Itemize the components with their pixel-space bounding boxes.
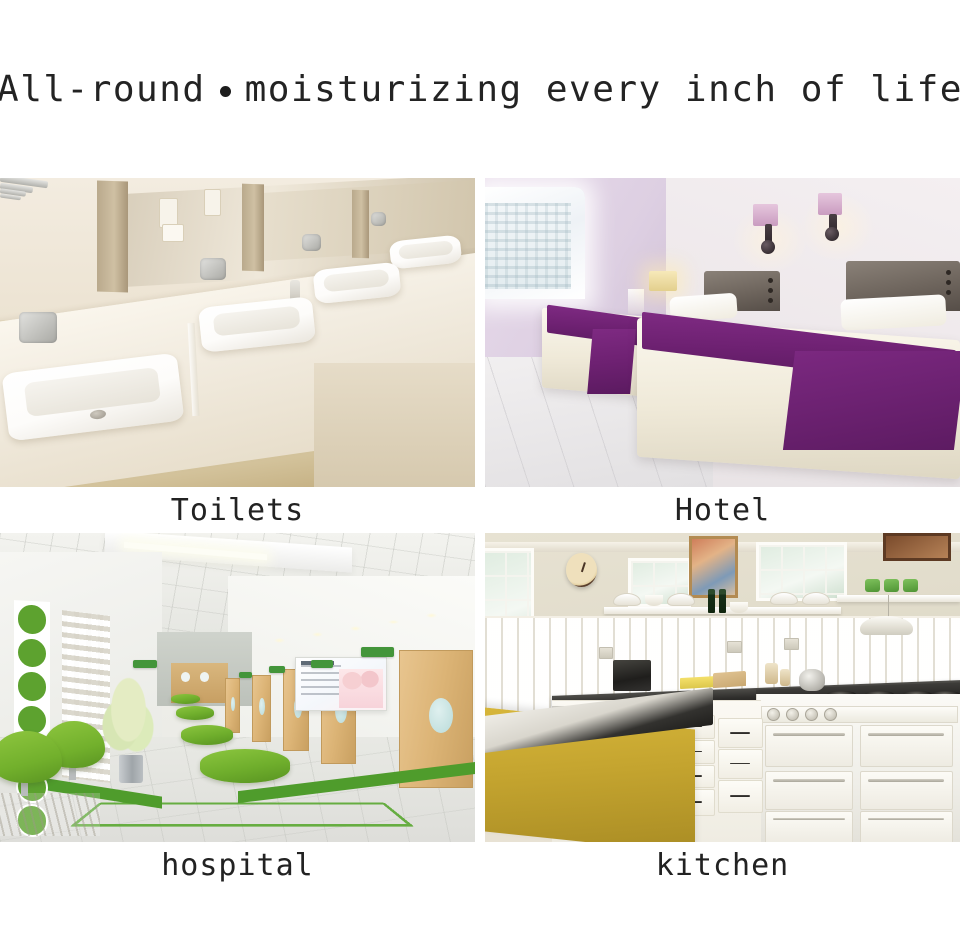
cabinet-drawer[interactable]	[718, 718, 763, 748]
bullet-dot-icon	[220, 86, 231, 97]
wall-clock-icon	[566, 553, 597, 587]
oven-door[interactable]	[860, 771, 952, 810]
countertop-jar	[765, 663, 777, 685]
range-knob[interactable]	[786, 708, 799, 721]
oven-door[interactable]	[860, 725, 952, 767]
page-title: All-round moisturizing every inch of lif…	[0, 69, 960, 110]
restroom-pillar	[97, 181, 128, 293]
patient-room-door[interactable]	[252, 675, 271, 742]
scene-gallery-grid: Toilets	[0, 178, 960, 878]
poster-photo	[339, 669, 382, 708]
paper-dispenser	[204, 189, 221, 216]
wall-lightbox-poster	[295, 657, 387, 712]
wall-outlet	[727, 641, 741, 653]
floor-green-inlay	[69, 802, 414, 826]
gallery-tile-kitchen[interactable]: kitchen	[485, 533, 960, 888]
bedside-lamp-base	[628, 289, 645, 314]
headline-banner: All-round moisturizing every inch of lif…	[0, 0, 960, 178]
ceiling-downlight	[312, 632, 323, 637]
planter-pot	[119, 755, 143, 783]
window-view-building	[485, 203, 571, 290]
faucet-wall-plate	[371, 212, 386, 226]
photo-toilets	[0, 178, 475, 487]
faucet-wall-plate	[302, 234, 321, 251]
wall-outlet	[599, 647, 613, 659]
oven-door[interactable]	[860, 811, 952, 842]
shelf-dishware	[613, 593, 695, 606]
caption-hospital: hospital	[0, 842, 475, 888]
framed-artwork	[883, 533, 951, 561]
range-control-panel[interactable]	[761, 706, 958, 723]
potted-plant	[100, 675, 157, 762]
cutting-board	[713, 671, 746, 689]
caption-toilets: Toilets	[0, 487, 475, 533]
waiting-seat-pod	[181, 725, 233, 745]
door-porthole	[181, 672, 191, 682]
oven-door[interactable]	[765, 771, 853, 810]
patient-room-door[interactable]	[225, 678, 240, 733]
photo-hotel	[485, 178, 960, 487]
gallery-tile-hotel[interactable]: Hotel	[485, 178, 960, 533]
room-sign	[133, 660, 157, 668]
room-sign	[239, 672, 251, 678]
wall-sconce-shade	[818, 193, 843, 215]
oven-door[interactable]	[765, 725, 853, 767]
range-knob[interactable]	[767, 708, 780, 721]
photo-kitchen	[485, 533, 960, 842]
bedside-lamp	[649, 271, 678, 291]
paper-dispenser	[162, 224, 185, 241]
wall-sconce-mount	[761, 240, 775, 254]
bed-runner-drape	[783, 351, 960, 450]
faucet-wall-plate	[200, 258, 226, 280]
wall-outlet	[784, 638, 798, 650]
headline-part-one: All-round	[0, 69, 206, 110]
shelf-dishware	[708, 589, 748, 613]
headboard-studs	[768, 278, 773, 303]
room-sign	[311, 660, 332, 668]
countertop-jar	[780, 669, 790, 686]
headboard-studs	[946, 270, 951, 295]
striped-rug	[0, 793, 100, 836]
waiting-seat-pod	[171, 694, 200, 705]
photo-hospital	[0, 533, 475, 842]
waiting-seat-pod	[176, 706, 214, 720]
shelf-glassware	[865, 579, 918, 592]
pendant-lamp	[860, 616, 912, 635]
gallery-tile-hospital[interactable]: hospital	[0, 533, 475, 888]
coffee-machine	[613, 660, 651, 691]
oven-door[interactable]	[765, 811, 853, 842]
wall-sconce-shade	[753, 204, 778, 226]
range-knob[interactable]	[805, 708, 818, 721]
restroom-pillar	[242, 184, 264, 271]
faucet-wall-plate	[19, 312, 57, 343]
ceiling-downlight	[350, 626, 361, 631]
range-knob[interactable]	[824, 708, 837, 721]
caption-kitchen: kitchen	[485, 842, 960, 888]
bed-runner-drape	[587, 329, 635, 394]
headline-part-two: moisturizing every inch of life	[245, 69, 960, 110]
cabinet-drawer[interactable]	[718, 749, 763, 779]
restroom-floor	[314, 363, 476, 487]
waiting-seat-pod	[200, 749, 290, 783]
open-shelf	[837, 595, 960, 602]
tea-kettle	[799, 669, 825, 691]
caption-hotel: Hotel	[485, 487, 960, 533]
ceiling-downlight	[274, 638, 285, 643]
room-sign	[269, 666, 285, 673]
pillow	[841, 294, 947, 330]
room-sign	[361, 647, 394, 657]
shelf-dishware	[770, 592, 830, 605]
cabinet-drawer[interactable]	[718, 780, 763, 813]
door-porthole	[200, 672, 210, 682]
gallery-tile-toilets[interactable]: Toilets	[0, 178, 475, 533]
poster-text-lines	[301, 665, 341, 699]
restroom-pillar	[352, 190, 369, 259]
